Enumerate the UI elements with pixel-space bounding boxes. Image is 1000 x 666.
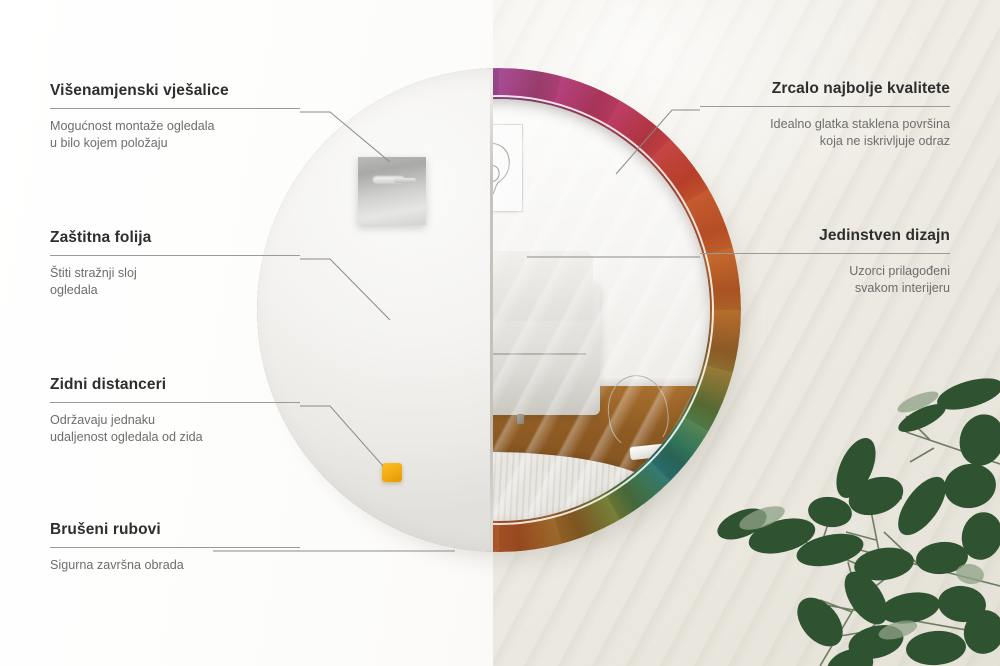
callout-description: Održavaju jednaku udaljenost ogledala od… (50, 412, 300, 448)
wall-spacer-block-icon (382, 463, 402, 482)
wall-hanger-plate-icon (358, 157, 426, 225)
callout-visenamjenski-vjesalice: Višenamjenski vješalice Mogućnost montaž… (50, 82, 300, 166)
foliage-decoration-icon (670, 336, 1000, 666)
callout-bruseni-rubovi: Brušeni rubovi Sigurna završna obrada (50, 521, 300, 587)
callout-title: Višenamjenski vješalice (50, 82, 300, 101)
callout-description: Štiti stražnji sloj ogledala (50, 265, 300, 301)
callout-description: Sigurna završna obrada (50, 557, 300, 575)
callout-rule (700, 106, 950, 107)
hanger-slot-shadow (394, 178, 416, 183)
callout-rule (50, 255, 300, 256)
mirror-back-edge (490, 68, 493, 552)
product-mirror (257, 68, 741, 552)
callout-title: Jedinstven dizajn (700, 227, 950, 246)
callout-description: Idealno glatka staklena površina koja ne… (700, 116, 950, 152)
callout-title: Zaštitna folija (50, 229, 300, 248)
callout-zastitna-folija: Zaštitna folija Štiti stražnji sloj ogle… (50, 229, 300, 313)
infographic-canvas: Višenamjenski vješalice Mogućnost montaž… (0, 0, 1000, 666)
callout-title: Zrcalo najbolje kvalitete (700, 80, 950, 99)
callout-title: Brušeni rubovi (50, 521, 300, 540)
callout-description: Mogućnost montaže ogledala u bilo kojem … (50, 118, 300, 154)
callout-jedinstven-dizajn: Jedinstven dizajn Uzorci prilagođeni sva… (700, 227, 950, 311)
callout-rule (50, 108, 300, 109)
callout-zrcalo-najbolje-kvalitete: Zrcalo najbolje kvalitete Idealno glatka… (700, 80, 950, 164)
callout-title: Zidni distanceri (50, 376, 300, 395)
callout-rule (50, 402, 300, 403)
callout-zidni-distanceri: Zidni distanceri Održavaju jednaku udalj… (50, 376, 300, 460)
callout-rule (50, 547, 300, 548)
callout-description: Uzorci prilagođeni svakom interijeru (700, 263, 950, 299)
callout-rule (700, 253, 950, 254)
